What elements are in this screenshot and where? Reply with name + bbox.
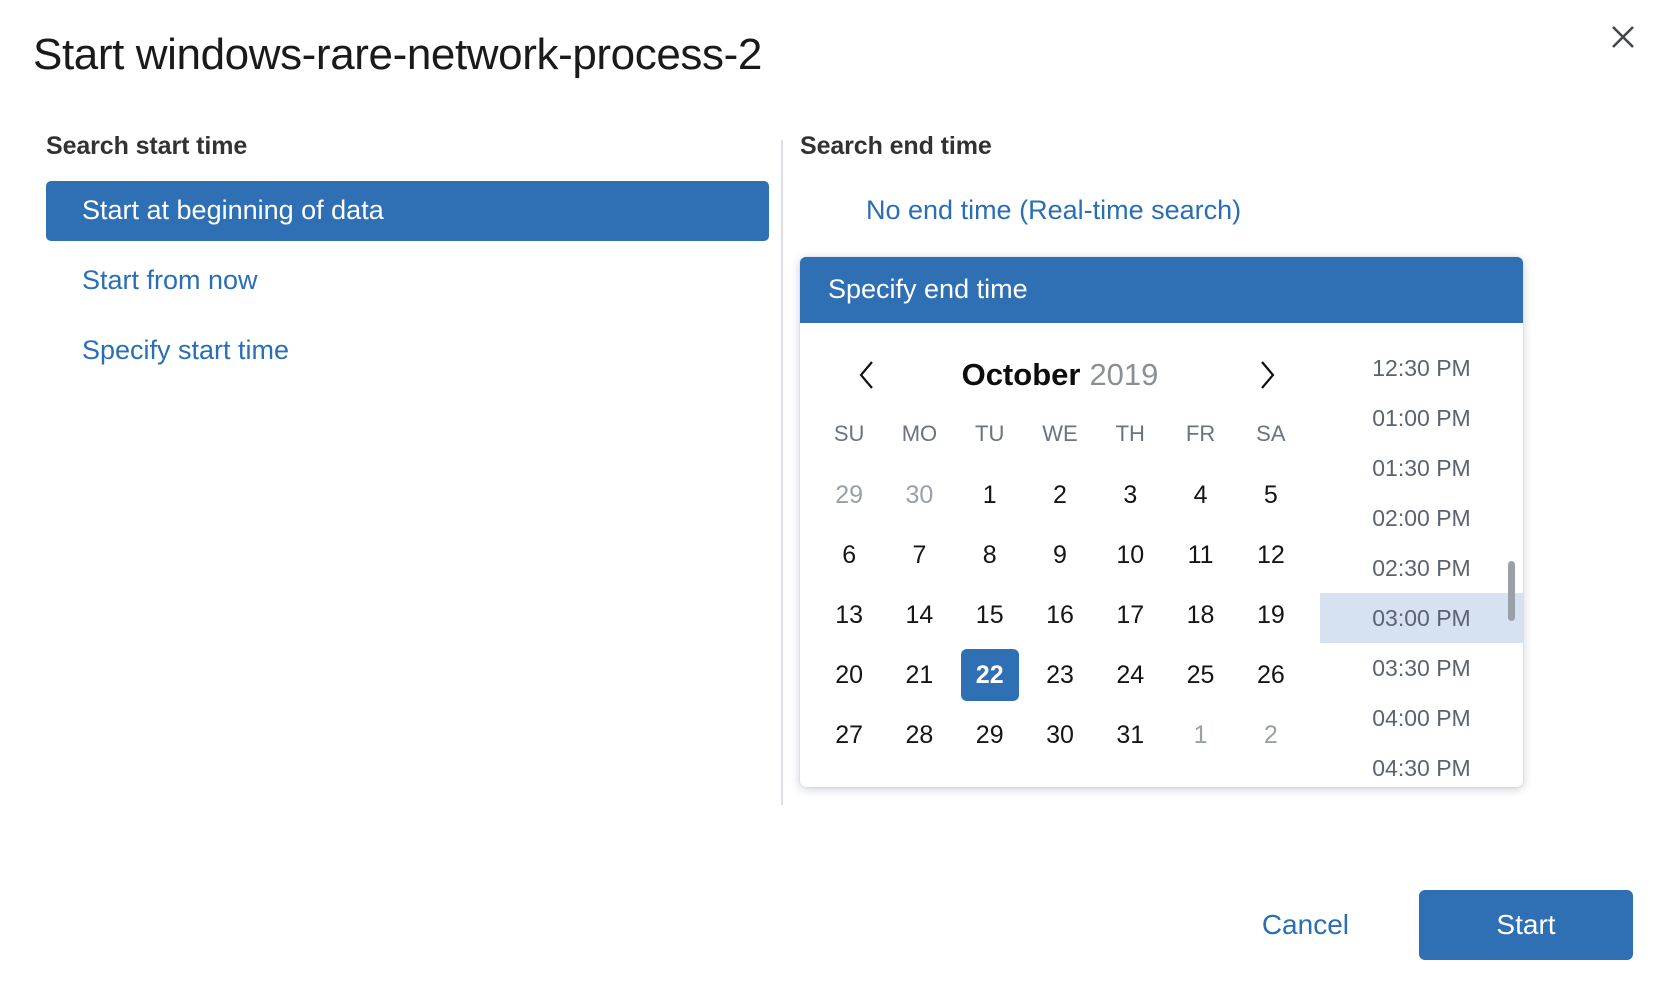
search-end-time-column: Search end time No end time (Real-time s… bbox=[800, 132, 1530, 241]
time-option[interactable]: 01:00 PM bbox=[1320, 393, 1523, 443]
calendar: October2019 SUMOTUWETHFRSA 2930123456789… bbox=[800, 323, 1320, 787]
time-option[interactable]: 12:30 PM bbox=[1320, 343, 1523, 393]
calendar-day[interactable]: 2 bbox=[1025, 465, 1095, 525]
calendar-day-label: 18 bbox=[1172, 589, 1230, 641]
calendar-day[interactable]: 12 bbox=[1236, 525, 1306, 585]
calendar-day[interactable]: 16 bbox=[1025, 585, 1095, 645]
calendar-day[interactable]: 10 bbox=[1095, 525, 1165, 585]
start-search-dialog: Start windows-rare-network-process-2 Sea… bbox=[0, 0, 1666, 994]
column-divider bbox=[781, 140, 783, 805]
search-start-time-column: Search start time Start at beginning of … bbox=[46, 132, 769, 381]
calendar-day-label: 12 bbox=[1242, 529, 1300, 581]
calendar-day[interactable]: 4 bbox=[1165, 465, 1235, 525]
chevron-right-icon[interactable] bbox=[1242, 350, 1292, 400]
calendar-day-label: 9 bbox=[1031, 529, 1089, 581]
time-option[interactable]: 03:30 PM bbox=[1320, 643, 1523, 693]
calendar-day-label: 3 bbox=[1101, 469, 1159, 521]
start-option-beginning-of-data[interactable]: Start at beginning of data bbox=[46, 181, 769, 241]
calendar-day[interactable]: 17 bbox=[1095, 585, 1165, 645]
calendar-day[interactable]: 8 bbox=[955, 525, 1025, 585]
calendar-day-label: 2 bbox=[1031, 469, 1089, 521]
calendar-day[interactable]: 9 bbox=[1025, 525, 1095, 585]
calendar-day-label: 31 bbox=[1101, 709, 1159, 761]
calendar-day-label: 30 bbox=[890, 469, 948, 521]
spacer bbox=[46, 311, 769, 321]
calendar-day[interactable]: 15 bbox=[955, 585, 1025, 645]
calendar-day-label: 22 bbox=[961, 649, 1019, 701]
calendar-day-label: 30 bbox=[1031, 709, 1089, 761]
calendar-day[interactable]: 24 bbox=[1095, 645, 1165, 705]
calendar-day-label: 16 bbox=[1031, 589, 1089, 641]
time-option[interactable]: 01:30 PM bbox=[1320, 443, 1523, 493]
page-title: Start windows-rare-network-process-2 bbox=[33, 30, 762, 80]
start-option-specify-start-time[interactable]: Specify start time bbox=[46, 321, 769, 381]
calendar-day-label: 26 bbox=[1242, 649, 1300, 701]
calendar-year-label: 2019 bbox=[1089, 357, 1158, 392]
calendar-day[interactable]: 29 bbox=[955, 705, 1025, 765]
calendar-day-label: 4 bbox=[1172, 469, 1230, 521]
calendar-day-label: 1 bbox=[961, 469, 1019, 521]
calendar-day-label: 6 bbox=[820, 529, 878, 581]
calendar-day[interactable]: 19 bbox=[1236, 585, 1306, 645]
calendar-day-label: 29 bbox=[820, 469, 878, 521]
search-end-time-heading: Search end time bbox=[800, 132, 1530, 161]
calendar-day[interactable]: 1 bbox=[1165, 705, 1235, 765]
calendar-day-selected[interactable]: 22 bbox=[955, 645, 1025, 705]
calendar-day[interactable]: 28 bbox=[884, 705, 954, 765]
calendar-day[interactable]: 31 bbox=[1095, 705, 1165, 765]
calendar-day-label: 29 bbox=[961, 709, 1019, 761]
time-option[interactable]: 04:00 PM bbox=[1320, 693, 1523, 743]
calendar-day[interactable]: 30 bbox=[884, 465, 954, 525]
calendar-day-label: 19 bbox=[1242, 589, 1300, 641]
calendar-day-label: 1 bbox=[1172, 709, 1230, 761]
calendar-day-label: 23 bbox=[1031, 649, 1089, 701]
datetime-picker: October2019 SUMOTUWETHFRSA 2930123456789… bbox=[800, 323, 1523, 787]
calendar-days-grid: 2930123456789101112131415161718192021222… bbox=[814, 465, 1306, 765]
calendar-day-label: 11 bbox=[1172, 529, 1230, 581]
calendar-day[interactable]: 27 bbox=[814, 705, 884, 765]
calendar-day[interactable]: 1 bbox=[955, 465, 1025, 525]
calendar-day[interactable]: 5 bbox=[1236, 465, 1306, 525]
calendar-day-headers: SUMOTUWETHFRSA bbox=[814, 407, 1306, 465]
dialog-footer: Cancel Start bbox=[1232, 890, 1633, 960]
calendar-day-label: 28 bbox=[890, 709, 948, 761]
start-button[interactable]: Start bbox=[1419, 890, 1633, 960]
calendar-day-label: 2 bbox=[1242, 709, 1300, 761]
calendar-day-header: SU bbox=[814, 407, 884, 465]
calendar-day-label: 7 bbox=[890, 529, 948, 581]
time-option[interactable]: 04:30 PM bbox=[1320, 743, 1523, 787]
calendar-day[interactable]: 29 bbox=[814, 465, 884, 525]
calendar-day[interactable]: 23 bbox=[1025, 645, 1095, 705]
time-option[interactable]: 02:00 PM bbox=[1320, 493, 1523, 543]
calendar-day-label: 24 bbox=[1101, 649, 1159, 701]
calendar-day-label: 5 bbox=[1242, 469, 1300, 521]
chevron-left-icon[interactable] bbox=[842, 350, 892, 400]
calendar-day[interactable]: 20 bbox=[814, 645, 884, 705]
calendar-day-label: 20 bbox=[820, 649, 878, 701]
calendar-day-label: 14 bbox=[890, 589, 948, 641]
calendar-day-label: 25 bbox=[1172, 649, 1230, 701]
calendar-day[interactable]: 26 bbox=[1236, 645, 1306, 705]
calendar-day-label: 27 bbox=[820, 709, 878, 761]
calendar-day[interactable]: 25 bbox=[1165, 645, 1235, 705]
time-list[interactable]: 12:30 PM01:00 PM01:30 PM02:00 PM02:30 PM… bbox=[1320, 323, 1523, 787]
calendar-day[interactable]: 13 bbox=[814, 585, 884, 645]
cancel-button[interactable]: Cancel bbox=[1232, 891, 1379, 959]
calendar-day-label: 10 bbox=[1101, 529, 1159, 581]
calendar-day-header: TH bbox=[1095, 407, 1165, 465]
end-option-no-end-time[interactable]: No end time (Real-time search) bbox=[830, 181, 1530, 241]
close-icon[interactable] bbox=[1600, 14, 1646, 60]
dialog-body: Search start time Start at beginning of … bbox=[0, 132, 1666, 812]
calendar-day-header: TU bbox=[955, 407, 1025, 465]
end-option-specify-end-time[interactable]: Specify end time bbox=[800, 257, 1523, 323]
calendar-day-label: 17 bbox=[1101, 589, 1159, 641]
calendar-day[interactable]: 18 bbox=[1165, 585, 1235, 645]
calendar-day-header: FR bbox=[1165, 407, 1235, 465]
calendar-day-header: WE bbox=[1025, 407, 1095, 465]
calendar-nav: October2019 bbox=[814, 343, 1306, 407]
calendar-day[interactable]: 21 bbox=[884, 645, 954, 705]
calendar-month-label: October bbox=[962, 357, 1081, 392]
search-start-time-heading: Search start time bbox=[46, 132, 769, 161]
start-option-from-now[interactable]: Start from now bbox=[46, 251, 769, 311]
calendar-day[interactable]: 7 bbox=[884, 525, 954, 585]
spacer bbox=[46, 241, 769, 251]
calendar-day[interactable]: 2 bbox=[1236, 705, 1306, 765]
specify-end-time-panel: Specify end time October2019 bbox=[800, 257, 1523, 787]
time-option[interactable]: 02:30 PM bbox=[1320, 543, 1523, 593]
calendar-day[interactable]: 6 bbox=[814, 525, 884, 585]
calendar-day[interactable]: 11 bbox=[1165, 525, 1235, 585]
calendar-day[interactable]: 3 bbox=[1095, 465, 1165, 525]
calendar-day-header: MO bbox=[884, 407, 954, 465]
calendar-day-label: 15 bbox=[961, 589, 1019, 641]
calendar-day[interactable]: 14 bbox=[884, 585, 954, 645]
time-list-scrollbar[interactable] bbox=[1508, 561, 1515, 621]
calendar-day-label: 8 bbox=[961, 529, 1019, 581]
time-option-selected[interactable]: 03:00 PM bbox=[1320, 593, 1523, 643]
calendar-day-label: 21 bbox=[890, 649, 948, 701]
calendar-day-label: 13 bbox=[820, 589, 878, 641]
calendar-day[interactable]: 30 bbox=[1025, 705, 1095, 765]
calendar-day-header: SA bbox=[1236, 407, 1306, 465]
